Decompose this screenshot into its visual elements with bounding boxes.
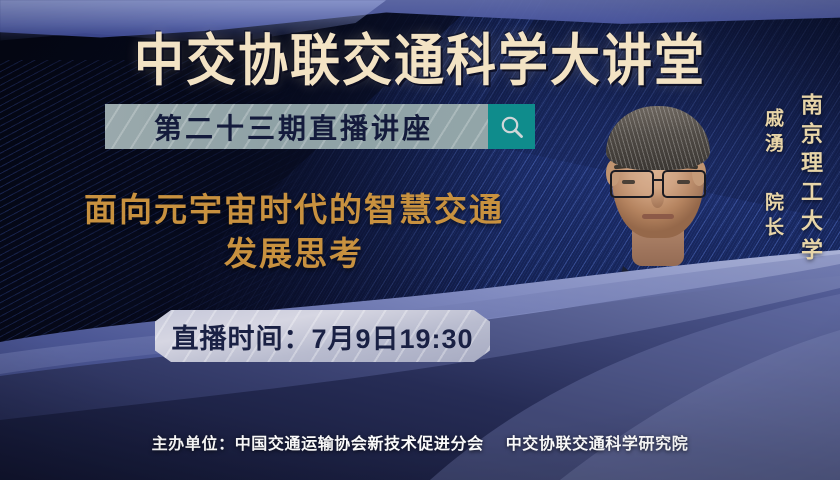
glasses-lens-left [610,170,654,198]
speaker-organization: 南京理工大学 [794,93,826,267]
lecture-title-line-1: 面向元宇宙时代的智慧交通 [34,188,554,232]
organizer-footer: 主办单位：中国交通运输协会新技术促进分会中交协联交通科学研究院 [0,430,840,454]
search-icon [499,114,525,140]
episode-bar: 第二十三期直播讲座 [105,104,535,149]
glasses-icon [608,170,708,196]
portrait-mouth [642,214,674,219]
broadcast-time-badge: 直播时间：7月9日19:30 [155,310,490,362]
organizer-name-1: 中国交通运输协会新技术促进分会 [235,436,484,453]
broadcast-time-text: 直播时间：7月9日19:30 [171,317,473,356]
page-title: 中交协联交通科学大讲堂 [0,16,840,97]
speaker-name: 戚湧 [759,108,786,158]
lecture-poster: 中交协联交通科学大讲堂 第二十三期直播讲座 面向元宇宙时代的智慧交通 发展思考 … [0,0,840,480]
lecture-title-line-2: 发展思考 [34,232,554,276]
portrait-hair [606,106,710,170]
glasses-bridge [652,179,664,181]
speaker-role: 院长 [759,192,786,242]
search-button[interactable] [488,104,535,149]
episode-label: 第二十三期直播讲座 [105,107,488,147]
lecture-title: 面向元宇宙时代的智慧交通 发展思考 [34,188,554,276]
organizer-name-2: 中交协联交通科学研究院 [506,436,689,453]
glasses-lens-right [662,170,706,198]
organizer-label: 主办单位： [152,436,235,453]
